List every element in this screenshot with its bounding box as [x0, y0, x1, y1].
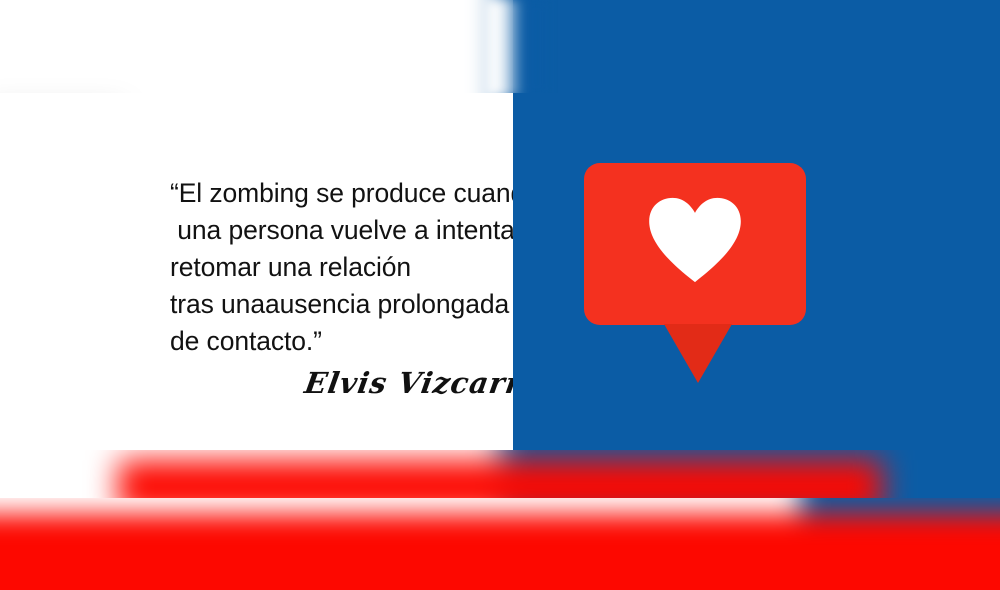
card-white-half: “El zombing se produce cuando una person…: [0, 93, 513, 450]
quote-line-1: “El zombing se produce cuando: [170, 175, 510, 212]
quote-line-5: de contacto.”: [170, 323, 510, 360]
bottom-band-inner: La República: [0, 498, 1000, 590]
quote-line-3: retomar una relación: [170, 249, 510, 286]
quote-line-4: tras unaausencia prolongada: [170, 286, 510, 323]
quote-line-2: una persona vuelve a intentar: [170, 212, 510, 249]
bottom-blurred-band: La República: [0, 498, 1000, 590]
quote-card: “El zombing se produce cuando una person…: [0, 93, 1000, 498]
bubble-tail-pointer-icon: [664, 324, 732, 383]
quote-text: “El zombing se produce cuando una person…: [170, 175, 510, 360]
card-top-blur-seam: [486, 0, 546, 96]
quote-card-image: La República “El zombing se produce cuan…: [0, 0, 1000, 590]
bottom-band-red: [0, 514, 1000, 590]
author-signature: Elvis Vizcarra: [302, 366, 544, 400]
heart-icon: [648, 197, 742, 283]
card-blue-top-extension: [513, 0, 1000, 93]
